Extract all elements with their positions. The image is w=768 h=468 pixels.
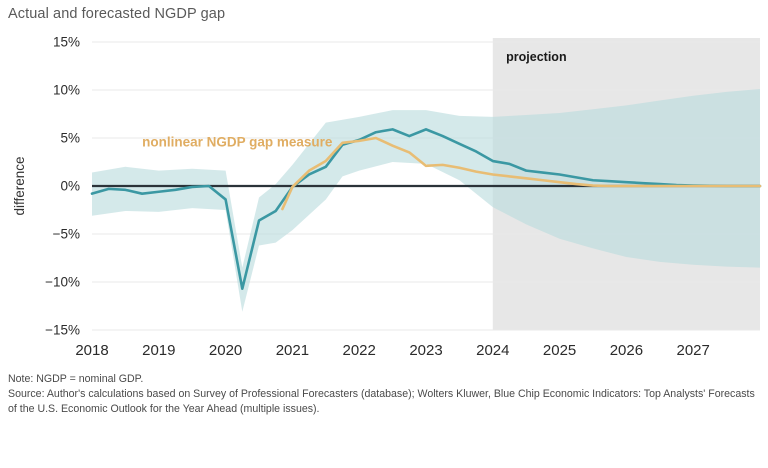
x-tick-label: 2024 [476,342,509,359]
x-tick-label: 2022 [343,342,376,359]
y-tick-label: −5% [53,227,80,242]
x-tick-label: 2019 [142,342,175,359]
footnote-note: Note: NGDP = nominal GDP. [8,372,760,387]
x-tick-label: 2018 [75,342,108,359]
x-tick-label: 2027 [677,342,710,359]
y-axis-tick-labels: 15%10%5%0%−5%−10%−15% [45,35,80,338]
y-tick-label: −15% [45,323,80,338]
x-tick-label: 2023 [409,342,442,359]
y-axis-title-text: difference [12,156,27,215]
y-tick-label: −10% [45,275,80,290]
y-tick-label: 15% [53,35,80,50]
y-tick-label: 5% [60,131,80,146]
series-label-nonlinear: nonlinear NGDP gap measure [142,135,333,150]
figure-container: Actual and forecasted NGDP gap 15%10%5%0… [0,0,768,468]
ngdp-gap-line-chart: 15%10%5%0%−5%−10%−15% 201820192020202120… [0,26,768,366]
x-tick-label: 2025 [543,342,576,359]
projection-label: projection [506,50,566,64]
footnotes-block: Note: NGDP = nominal GDP. Source: Author… [8,372,760,417]
y-tick-label: 10% [53,83,80,98]
page-title: Actual and forecasted NGDP gap [8,6,225,22]
footnote-source: Source: Author's calculations based on S… [8,387,760,417]
x-tick-label: 2026 [610,342,643,359]
x-axis-tick-labels: 2018201920202021202220232024202520262027 [75,342,710,359]
x-tick-label: 2020 [209,342,242,359]
y-axis-title: difference [12,156,27,215]
y-tick-label: 0% [60,179,80,194]
x-tick-label: 2021 [276,342,309,359]
chart-plot-area: 15%10%5%0%−5%−10%−15% 201820192020202120… [0,26,768,366]
